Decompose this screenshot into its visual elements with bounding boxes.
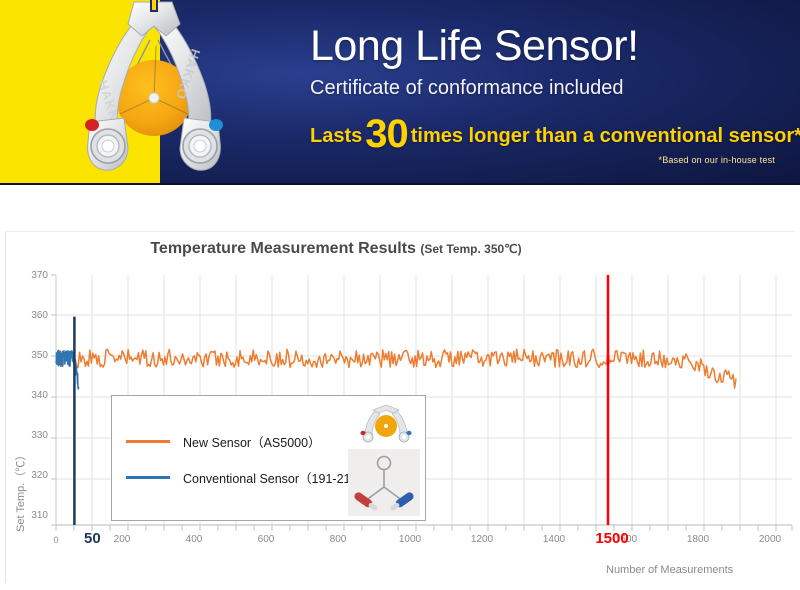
- banner-headline: Long Life Sensor!: [310, 20, 790, 72]
- chart-panel: Temperature Measurement Results (Set Tem…: [5, 231, 795, 583]
- legend-item-new-sensor: New Sensor（AS5000）: [126, 432, 321, 451]
- legend-swatch-new-sensor: [126, 440, 170, 443]
- y-axis-ticks: [51, 275, 56, 525]
- banner-bottom-rule: [0, 183, 800, 185]
- legend-label-conventional-sensor: Conventional Sensor（191-212）: [183, 468, 370, 487]
- banner-subheadline: Certificate of conformance included: [310, 74, 790, 102]
- claim-prefix: Lasts: [310, 125, 362, 147]
- x-axis-minor-ticks: [56, 525, 792, 531]
- hero-product-image: HAKKO HAKKO: [42, 0, 262, 182]
- chart-legend: New Sensor（AS5000） Conventional Sensor（1…: [111, 395, 426, 521]
- claim-suffix: times longer than a conventional sensor*: [411, 125, 800, 147]
- banner-claim: Lasts30times longer than a conventional …: [310, 112, 790, 157]
- legend-item-conventional-sensor: Conventional Sensor（191-212）: [126, 468, 370, 487]
- promo-banner: HAKKO HAKKO Long Life Sensor! Certificat…: [0, 0, 800, 185]
- legend-photo-new-sensor: [355, 401, 417, 445]
- banner-copy: Long Life Sensor! Certificate of conform…: [310, 20, 790, 165]
- legend-swatch-conventional-sensor: [126, 476, 170, 479]
- claim-number: 30: [365, 112, 408, 156]
- page-root: HAKKO HAKKO Long Life Sensor! Certificat…: [0, 0, 800, 590]
- legend-photo-conventional-sensor: [348, 449, 420, 516]
- legend-label-new-sensor: New Sensor（AS5000）: [183, 432, 321, 451]
